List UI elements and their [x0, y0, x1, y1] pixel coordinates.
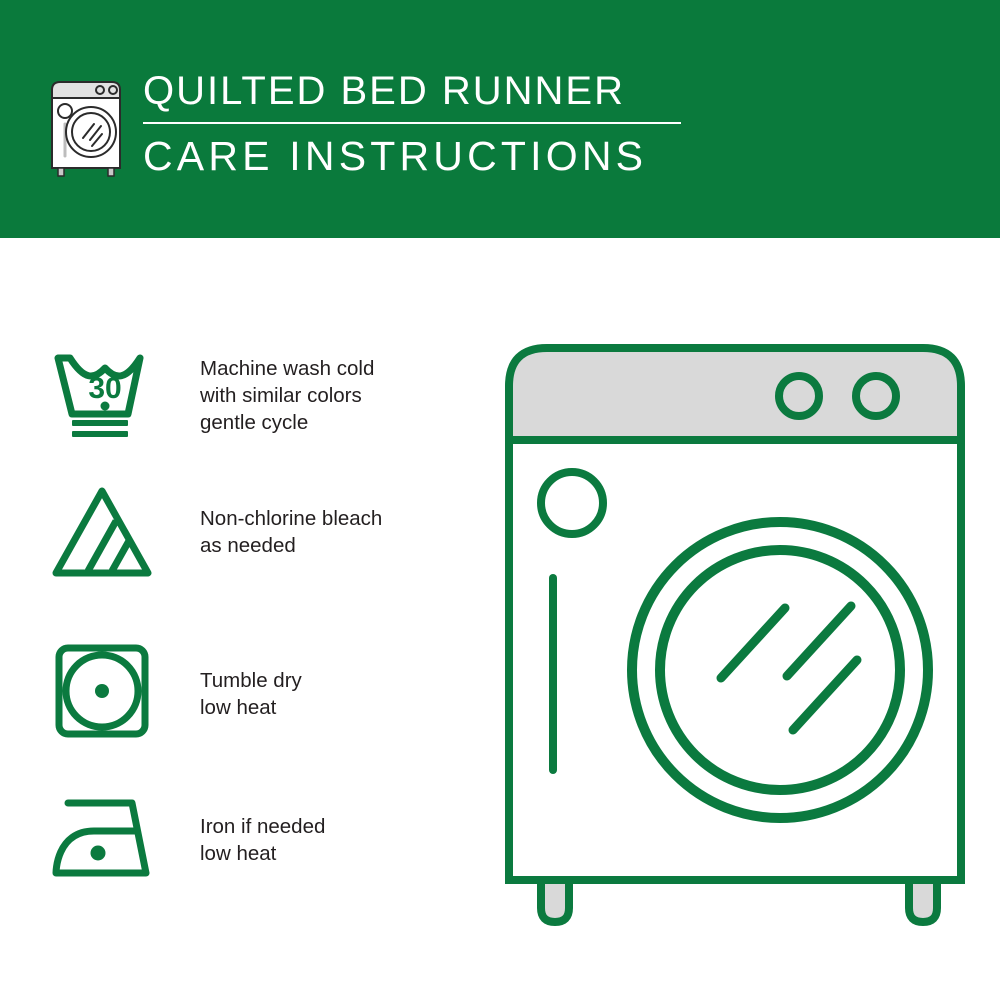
leg-left: [541, 880, 569, 922]
care-label-wash-line-3: gentle cycle: [200, 409, 450, 436]
header-banner: QUILTED BED RUNNER CARE INSTRUCTIONS: [0, 0, 1000, 238]
washing-machine-icon: [46, 68, 126, 176]
tumble-dry-low-heat-icon: [50, 641, 160, 741]
care-label-iron-line-2: low heat: [200, 840, 450, 867]
page-subtitle: CARE INSTRUCTIONS: [143, 130, 703, 182]
care-row-wash: 30 Machine wash cold with similar colors…: [0, 346, 470, 456]
iron-low-heat-icon: [50, 791, 160, 891]
page-title: QUILTED BED RUNNER: [143, 66, 703, 116]
triangle-non-chlorine-bleach-icon: [50, 483, 160, 583]
care-instructions-infographic: QUILTED BED RUNNER CARE INSTRUCTIONS 30: [0, 0, 1000, 1000]
care-label-wash-line-1: Machine wash cold: [200, 355, 450, 382]
care-symbol-list: 30 Machine wash cold with similar colors…: [0, 238, 470, 1000]
leg-right: [909, 880, 937, 922]
care-row-iron: Iron if needed low heat: [0, 791, 470, 891]
front-load-washing-machine-illustration: [495, 330, 975, 930]
care-label-bleach-line-1: Non-chlorine bleach: [200, 505, 450, 532]
care-label-bleach-line-2: as needed: [200, 532, 450, 559]
care-label-dry-line-1: Tumble dry: [200, 667, 450, 694]
care-label-dry-line-2: low heat: [200, 694, 450, 721]
header-text-block: QUILTED BED RUNNER CARE INSTRUCTIONS: [143, 66, 703, 182]
title-divider: [143, 122, 681, 124]
care-row-bleach: Non-chlorine bleach as needed: [0, 483, 470, 588]
svg-text:30: 30: [88, 372, 121, 405]
care-label-wash-line-2: with similar colors: [200, 382, 450, 409]
care-label-wash: Machine wash cold with similar colors ge…: [200, 355, 450, 436]
care-row-tumble-dry: Tumble dry low heat: [0, 641, 470, 746]
care-label-tumble-dry: Tumble dry low heat: [200, 667, 450, 721]
care-label-iron-line-1: Iron if needed: [200, 813, 450, 840]
wash-tub-30-gentle-icon: 30: [50, 346, 160, 446]
care-label-iron: Iron if needed low heat: [200, 813, 450, 867]
care-label-bleach: Non-chlorine bleach as needed: [200, 505, 450, 559]
